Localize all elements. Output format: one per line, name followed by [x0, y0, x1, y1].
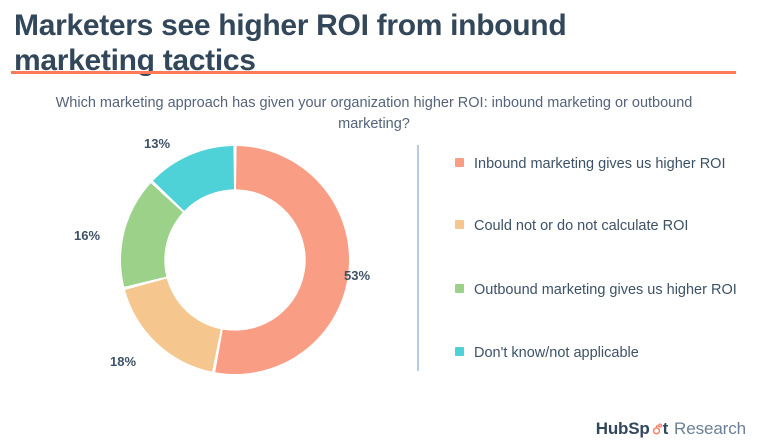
slice-value-label-nocalc: 18% — [110, 354, 136, 369]
legend-swatch-icon-inbound — [455, 158, 464, 167]
donut-graphic — [117, 142, 353, 378]
title-accent-rule — [11, 71, 736, 74]
logo-text-hubsp: HubSp — [596, 420, 650, 437]
logo-text-t: t — [663, 420, 668, 437]
chart-subtitle: Which marketing approach has given your … — [54, 93, 694, 135]
legend-swatch-icon-nocalc — [455, 220, 464, 229]
legend-swatch-icon-dontknow — [455, 347, 464, 356]
slice-value-label-outbound: 16% — [74, 228, 100, 243]
legend-label-dontknow: Don't know/not applicable — [474, 343, 639, 364]
donut-slice-group — [121, 146, 349, 374]
slice-value-label-dontknow: 13% — [144, 136, 170, 151]
legend-item-inbound[interactable]: Inbound marketing gives us higher ROI — [455, 154, 750, 175]
legend-label-nocalc: Could not or do not calculate ROI — [474, 216, 688, 237]
legend-item-dontknow[interactable]: Don't know/not applicable — [455, 343, 750, 364]
slice-value-label-inbound: 53% — [344, 268, 370, 283]
legend-swatch-icon-outbound — [455, 284, 464, 293]
logo-text-research: Research — [674, 420, 746, 437]
page-title: Marketers see higher ROI from inbound ma… — [14, 8, 674, 79]
legend-item-nocalc[interactable]: Could not or do not calculate ROI — [455, 216, 750, 237]
legend-label-inbound: Inbound marketing gives us higher ROI — [474, 154, 725, 175]
donut-slice[interactable] — [215, 146, 349, 374]
donut-chart: 53% 18% 16% 13% — [60, 132, 400, 390]
chart-legend-divider — [417, 145, 419, 371]
legend-label-outbound: Outbound marketing gives us higher ROI — [474, 280, 737, 301]
legend-item-outbound[interactable]: Outbound marketing gives us higher ROI — [455, 280, 750, 301]
donut-svg — [117, 142, 353, 378]
hubspot-research-logo: HubSp t Research — [596, 420, 746, 437]
donut-slice[interactable] — [125, 279, 221, 372]
hubspot-sprocket-icon — [650, 422, 663, 435]
slide-canvas: Marketers see higher ROI from inbound ma… — [0, 0, 768, 447]
